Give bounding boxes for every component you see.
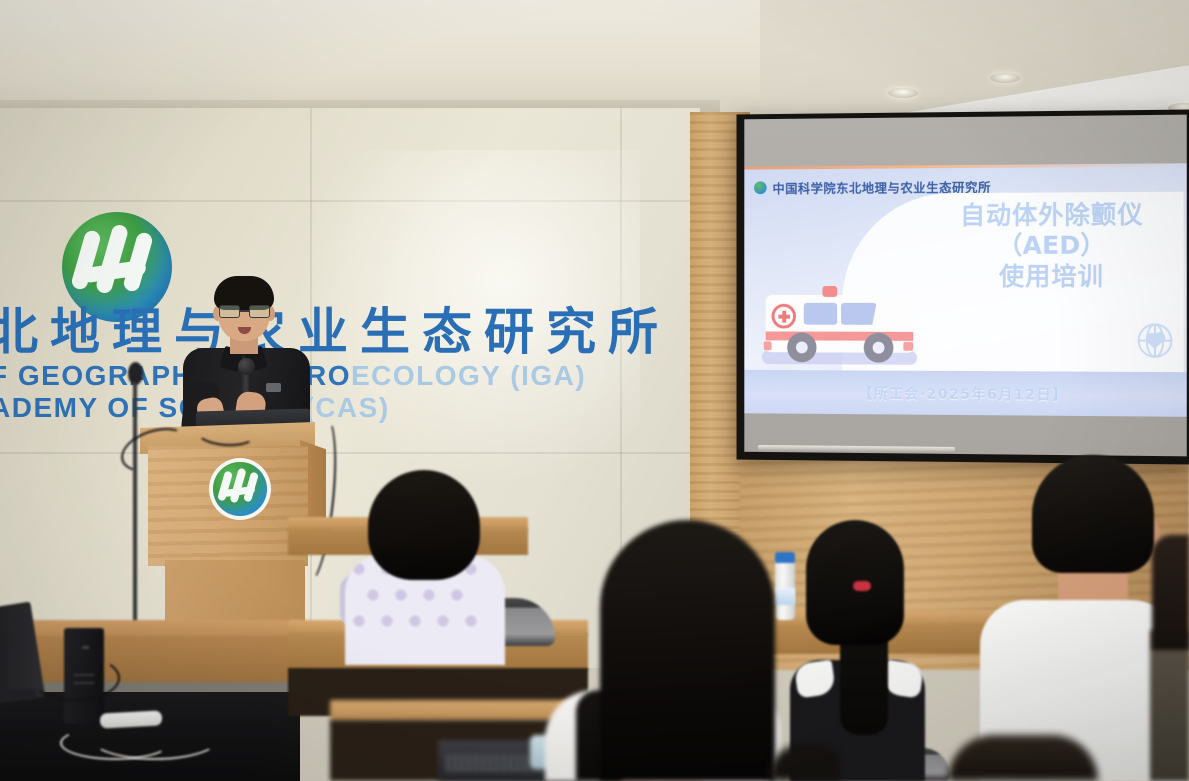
shirt-logo bbox=[266, 383, 281, 392]
attendee-hair bbox=[1032, 455, 1154, 573]
ceiling-downlight bbox=[888, 88, 918, 98]
glasses-lens bbox=[219, 305, 240, 318]
slide-title-line3: 使用培训 bbox=[921, 261, 1184, 293]
ambulance-front-light bbox=[764, 341, 772, 350]
power-cable bbox=[90, 716, 220, 760]
ambulance-wheel bbox=[864, 333, 894, 363]
ambulance-window bbox=[804, 303, 837, 325]
handheld-microphone-head bbox=[238, 358, 255, 375]
cable bbox=[30, 655, 120, 701]
globe-meridian bbox=[1146, 323, 1164, 357]
power-led-icon bbox=[82, 646, 89, 649]
ambulance-illustration bbox=[762, 275, 919, 365]
glasses-bridge bbox=[240, 310, 249, 312]
institute-globe-icon bbox=[754, 181, 767, 194]
wall-sign-en2-b: (CAS) bbox=[304, 392, 389, 423]
red-cross-icon bbox=[772, 304, 796, 329]
wall-sign-en2-a: ADEMY OF SC bbox=[0, 392, 200, 423]
attendee-hair bbox=[368, 470, 480, 580]
screen-bottom-bar bbox=[758, 445, 955, 452]
ceiling-soffit bbox=[0, 0, 760, 112]
wall-sign-en1-c: ECOLOGY (IGA) bbox=[351, 360, 586, 391]
ambulance-tail-light bbox=[903, 342, 913, 351]
eyeglasses-icon bbox=[219, 305, 270, 318]
slide-top-accent bbox=[744, 163, 1186, 169]
attendee-hair bbox=[948, 735, 1098, 781]
attendee-hair bbox=[1152, 535, 1189, 650]
attendee-foreground-dark bbox=[770, 745, 840, 781]
slide-title-line2: （AED） bbox=[921, 230, 1184, 261]
attendee-hair bbox=[600, 520, 775, 781]
wall-sign-en1-a: F GEOGRAPHY bbox=[0, 360, 213, 391]
hair-tie bbox=[853, 581, 871, 591]
slide-title: 自动体外除颤仪 （AED） 使用培训 bbox=[921, 200, 1184, 293]
slide-date-text: 【所工会·2025年6月12日】 bbox=[744, 383, 1186, 406]
ambulance-wheel bbox=[787, 333, 816, 363]
lecture-hall-photo: 北地理与农业生态研究所 F GEOGRAPHY ___ GROECOLOGY (… bbox=[0, 0, 1189, 781]
ambulance-window bbox=[841, 303, 876, 325]
monitor-stand bbox=[2, 690, 36, 699]
bottle-label bbox=[775, 588, 795, 605]
ambulance-roof-light bbox=[822, 286, 837, 297]
glasses-lens bbox=[249, 305, 270, 318]
ceiling-downlight bbox=[990, 73, 1020, 83]
iga-cas-globe-logo bbox=[213, 462, 267, 516]
globe-heart-icon bbox=[1138, 323, 1173, 358]
wall-sign-chinese-text: 北地理与农业生态研究所 bbox=[0, 303, 670, 361]
slide-title-line1: 自动体外除颤仪 bbox=[921, 200, 1184, 231]
projection-screen: 中国科学院东北地理与农业生态研究所 bbox=[737, 109, 1189, 464]
bottle-cap bbox=[775, 552, 795, 563]
projection-screen-surface: 中国科学院东北地理与农业生态研究所 bbox=[744, 115, 1186, 457]
attendee-torso bbox=[1150, 630, 1189, 781]
presentation-slide: 中国科学院东北地理与农业生态研究所 bbox=[744, 163, 1186, 417]
